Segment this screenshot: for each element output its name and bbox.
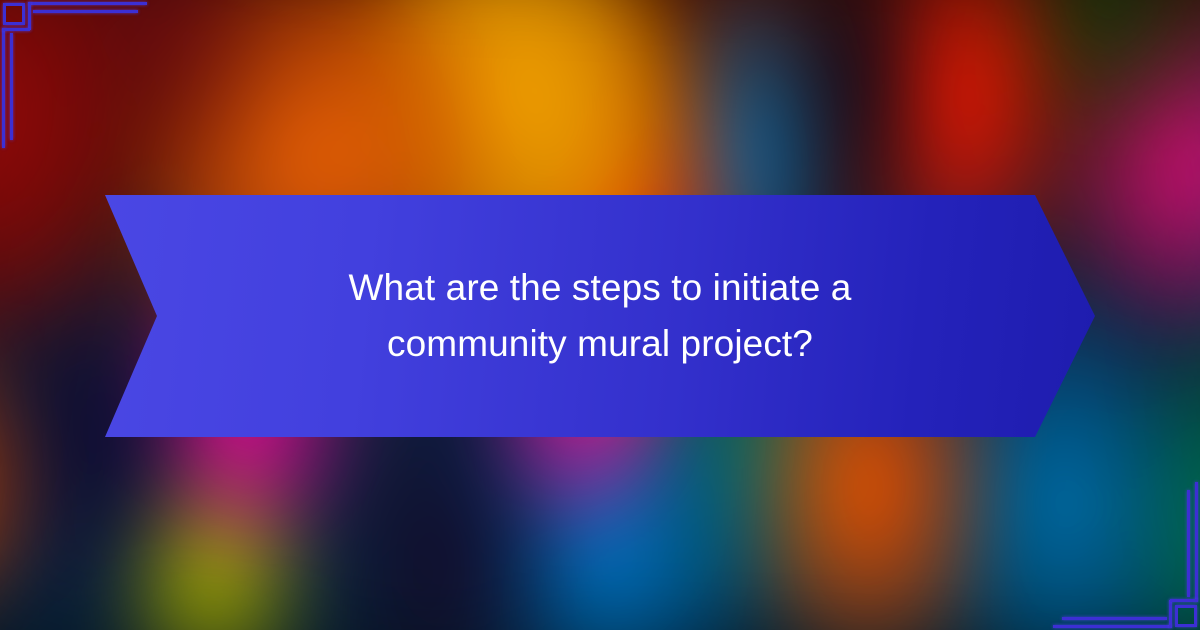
- question-text: What are the steps to initiate a communi…: [235, 260, 965, 372]
- social-card: What are the steps to initiate a communi…: [0, 0, 1200, 630]
- question-banner: What are the steps to initiate a communi…: [105, 195, 1095, 437]
